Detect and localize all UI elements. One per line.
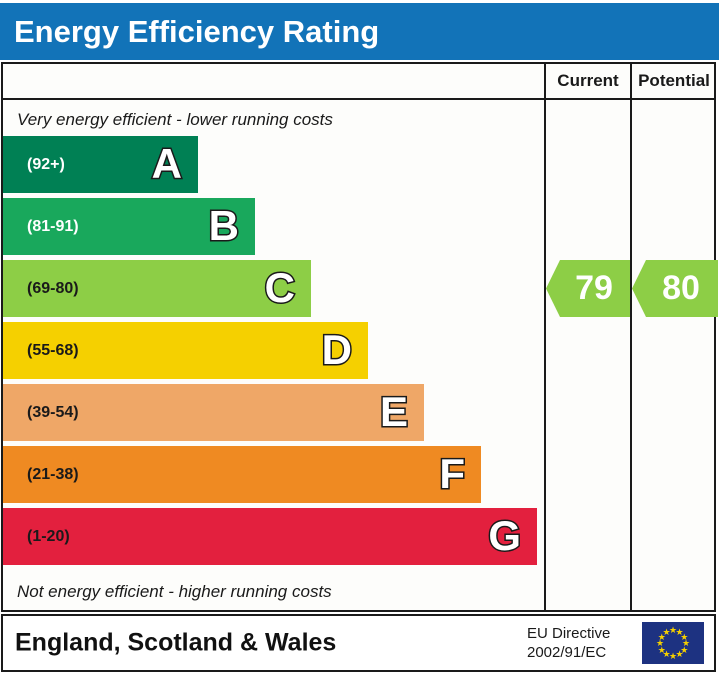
directive-line-2: 2002/91/EC [527,644,606,661]
page-title: Energy Efficiency Rating [14,14,379,50]
band-row-b: (81-91)B [3,198,544,255]
band-range-e: (39-54) [27,404,79,422]
band-row-e: (39-54)E [3,384,544,441]
band-bar-b: (81-91)B [3,198,255,255]
band-range-c: (69-80) [27,280,79,298]
band-range-b: (81-91) [27,218,79,236]
caption-efficient: Very energy efficient - lower running co… [17,106,333,134]
caption-inefficient: Not energy efficient - higher running co… [17,578,332,606]
band-row-c: (69-80)C [3,260,544,317]
band-range-g: (1-20) [27,528,70,546]
title-bar: Energy Efficiency Rating [0,3,719,60]
rating-arrow-current: 79 [546,260,630,317]
band-bar-f: (21-38)F [3,446,481,503]
band-list: (92+)A(81-91)B(69-80)C(55-68)D(39-54)E(2… [3,136,544,570]
bands-column: Very energy efficient - lower running co… [3,100,544,610]
band-range-a: (92+) [27,156,65,174]
band-letter-g: G [488,515,521,557]
rating-table: Current Potential Very energy efficient … [1,62,716,612]
column-header-potential: Potential [632,64,716,98]
eu-flag-icon: ★★★★★★★★★★★★ [642,622,704,664]
band-row-a: (92+)A [3,136,544,193]
band-range-f: (21-38) [27,466,79,484]
directive-line-1: EU Directive [527,625,610,642]
band-row-g: (1-20)G [3,508,544,565]
footer-directive-label: EU Directive 2002/91/EC [527,624,610,662]
eu-flag-star: ★ [663,628,671,636]
band-letter-d: D [322,329,352,371]
column-separator-current [544,64,546,610]
band-letter-b: B [209,205,239,247]
band-range-d: (55-68) [27,342,79,360]
footer-region-label: England, Scotland & Wales [15,629,336,658]
band-row-d: (55-68)D [3,322,544,379]
band-letter-f: F [439,453,465,495]
rating-arrow-potential: 80 [632,260,718,317]
band-bar-a: (92+)A [3,136,198,193]
footer-bar: England, Scotland & Wales EU Directive 2… [1,614,716,672]
band-row-f: (21-38)F [3,446,544,503]
band-letter-c: C [265,267,295,309]
band-letter-e: E [380,391,408,433]
column-separator-potential [630,64,632,610]
energy-efficiency-rating-chart: Energy Efficiency Rating Current Potenti… [0,0,719,675]
band-bar-c: (69-80)C [3,260,311,317]
table-header-row: Current Potential [3,64,714,100]
band-bar-d: (55-68)D [3,322,368,379]
band-bar-g: (1-20)G [3,508,537,565]
column-header-current: Current [546,64,630,98]
band-letter-a: A [152,143,182,185]
band-bar-e: (39-54)E [3,384,424,441]
